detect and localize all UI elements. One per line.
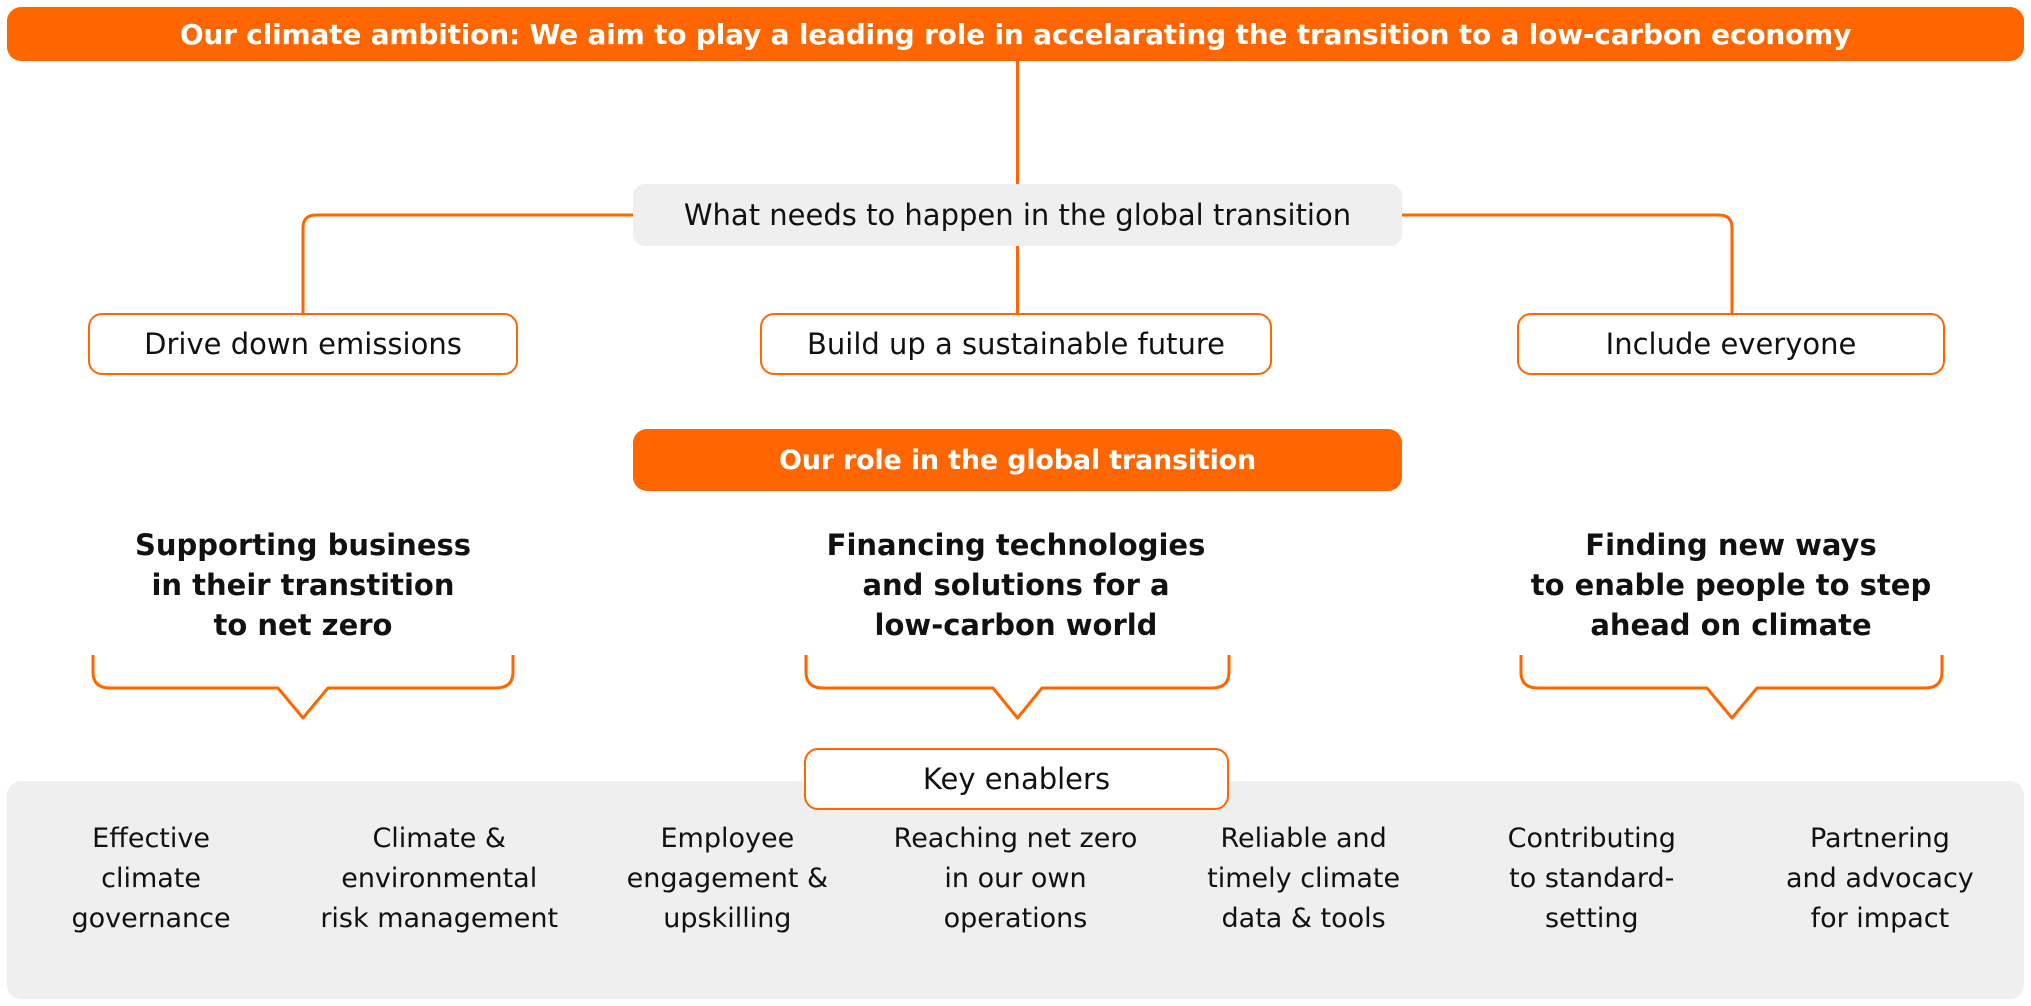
pillar-include-everyone: Include everyone	[1517, 313, 1945, 375]
brace-center	[806, 655, 1229, 718]
our-role-label: Our role in the global transition	[779, 445, 1256, 476]
enabler-climate-environmental-risk-management: Climate & environmental risk management	[295, 819, 583, 939]
climate-ambition-label: Our climate ambition: We aim to play a l…	[180, 18, 1851, 51]
enabler-employee-engagement-upskilling: Employee engagement & upskilling	[583, 819, 871, 939]
enabler-effective-climate-governance: Effective climate governance	[7, 819, 295, 939]
our-role-banner: Our role in the global transition	[633, 429, 1402, 491]
enabler-contributing-to-standard-setting: Contributing to standard- setting	[1448, 819, 1736, 939]
brace-right	[1521, 655, 1942, 718]
climate-ambition-banner: Our climate ambition: We aim to play a l…	[7, 7, 2024, 61]
pillar-label: Build up a sustainable future	[807, 327, 1225, 361]
pillar-label: Drive down emissions	[144, 327, 462, 361]
enabler-reliable-timely-climate-data-tools: Reliable and timely climate data & tools	[1160, 819, 1448, 939]
connector-pill-to-pillar-left	[303, 215, 633, 313]
pillar-label: Include everyone	[1606, 327, 1857, 361]
global-transition-label: What needs to happen in the global trans…	[684, 198, 1351, 232]
connector-pill-to-pillar-right	[1402, 215, 1732, 313]
key-enablers-list: Effective climate governance Climate & e…	[7, 781, 2024, 999]
pillar-build-up-sustainable-future: Build up a sustainable future	[760, 313, 1272, 375]
key-enablers-label: Key enablers	[923, 762, 1110, 796]
role-finding-new-ways: Finding new ways to enable people to ste…	[1517, 525, 1945, 645]
enabler-reaching-net-zero-operations: Reaching net zero in our own operations	[871, 819, 1159, 939]
role-financing-technologies: Financing technologies and solutions for…	[760, 525, 1272, 645]
pillar-drive-down-emissions: Drive down emissions	[88, 313, 518, 375]
diagram-canvas: Our climate ambition: We aim to play a l…	[0, 0, 2031, 1006]
role-supporting-business: Supporting business in their transtition…	[88, 525, 518, 645]
global-transition-pill: What needs to happen in the global trans…	[633, 184, 1402, 246]
enabler-partnering-advocacy-for-impact: Partnering and advocacy for impact	[1736, 819, 2024, 939]
brace-left	[93, 655, 513, 718]
key-enablers-box: Key enablers	[804, 748, 1229, 810]
